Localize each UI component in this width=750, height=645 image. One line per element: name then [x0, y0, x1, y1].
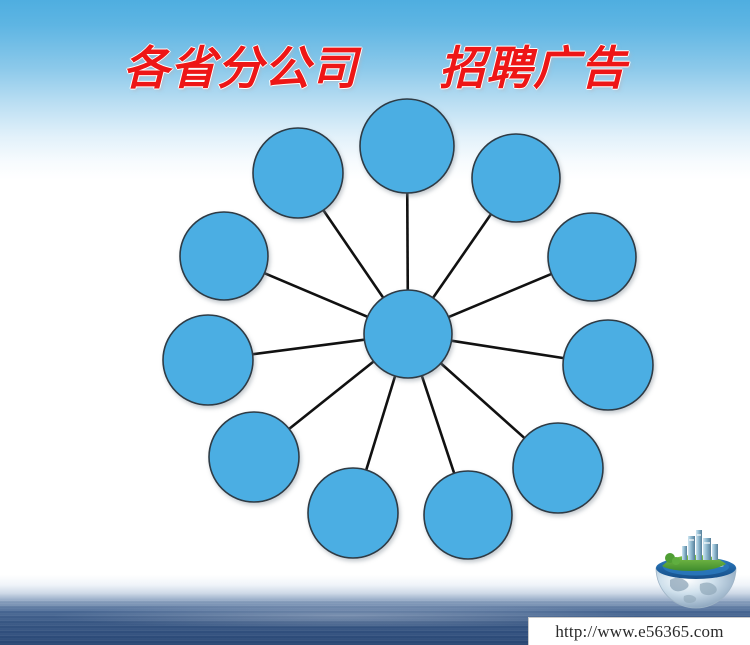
spoke-line-bottom-right [422, 375, 455, 474]
node-circles-group [163, 99, 653, 559]
spoke-line-upper-right [432, 213, 491, 298]
satellite-node-lower-left[interactable] [209, 412, 299, 502]
satellite-node-upper-left[interactable] [253, 128, 343, 218]
watermark-url: http://www.e56365.com [555, 622, 723, 642]
spoke-line-top [407, 192, 408, 291]
satellite-node-bottom-left[interactable] [308, 468, 398, 558]
diagram-svg [0, 0, 750, 645]
watermark-box: http://www.e56365.com [528, 617, 750, 645]
spoke-line-lower-right [440, 363, 525, 439]
globe-city-logo [648, 528, 744, 612]
hub-and-spoke-diagram [0, 0, 750, 645]
satellite-node-top[interactable] [360, 99, 454, 193]
slide-canvas: 各省分公司 招聘广告 [0, 0, 750, 645]
spoke-line-right-lower [450, 341, 564, 359]
satellite-node-right-lower[interactable] [563, 320, 653, 410]
spoke-line-bottom-left [366, 375, 395, 471]
spoke-line-lower-left [288, 361, 374, 430]
satellite-node-bottom-right[interactable] [424, 471, 512, 559]
spoke-line-left-lower [252, 340, 366, 355]
satellite-node-upper-right[interactable] [472, 134, 560, 222]
satellite-node-lower-right[interactable] [513, 423, 603, 513]
spoke-line-right-upper [448, 274, 553, 318]
satellite-node-left-lower[interactable] [163, 315, 253, 405]
spoke-line-left-upper [264, 273, 369, 317]
satellite-node-right-upper[interactable] [548, 213, 636, 301]
hub-node[interactable] [364, 290, 452, 378]
satellite-node-left-upper[interactable] [180, 212, 268, 300]
spoke-line-upper-left [323, 209, 384, 298]
